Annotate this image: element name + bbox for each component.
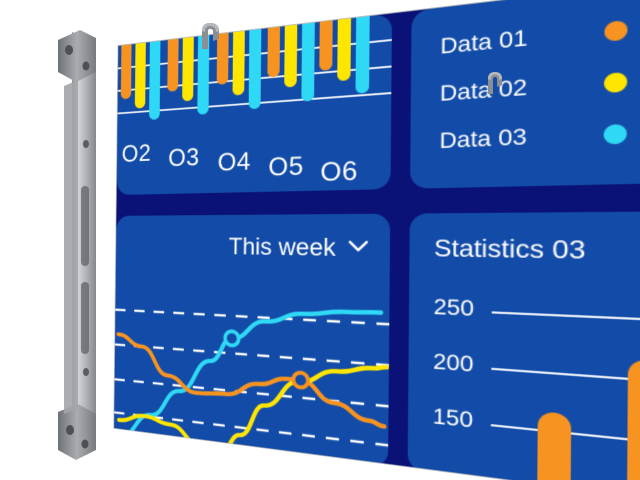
legend-widget[interactable]: Data 01Data 02Data 03: [410, 0, 640, 189]
bar-category-label: O6: [320, 156, 358, 188]
mounting-bracket: [56, 26, 102, 462]
statistics-gridline: [491, 424, 640, 447]
bar-category-label: O5: [268, 151, 304, 182]
legend-item-label: Data 03: [439, 125, 527, 155]
line-markers-group: [225, 331, 309, 388]
bar-chart-widget[interactable]: O2O3O4O5O6: [117, 13, 392, 195]
led-video-wall: O2O3O4O5O6 Data 01Data 02Data 03 This we…: [114, 0, 640, 480]
legend-item-label: Data 01: [440, 26, 528, 60]
line-chart-svg: [114, 280, 389, 468]
statistics-title: Statistics 03: [434, 234, 586, 265]
legend-color-dot: [604, 19, 627, 41]
statistics-gridline: [492, 311, 640, 322]
statistics-bar: [627, 360, 640, 480]
legend-item[interactable]: Data 01: [440, 15, 627, 60]
legend-item[interactable]: Data 03: [439, 119, 627, 154]
statistics-plot: 250200150: [410, 211, 640, 213]
bar-series-group: [121, 13, 370, 122]
statistics-gridline: [491, 368, 640, 385]
hanging-clip: [197, 21, 223, 56]
statistics-bar: [537, 412, 571, 480]
legend-color-dot: [604, 71, 627, 92]
line-chart-title: This week: [229, 234, 336, 263]
statistics-y-tick: 150: [433, 404, 474, 434]
bar-category-label: O2: [122, 139, 152, 168]
line-chart-header[interactable]: This week: [229, 234, 369, 264]
line-chart-widget[interactable]: This week: [114, 214, 390, 468]
statistics-y-tick: 250: [433, 295, 474, 322]
bar-category-label: O3: [168, 143, 200, 172]
led-screen-face: O2O3O4O5O6 Data 01Data 02Data 03 This we…: [114, 0, 640, 480]
line-chart-plot: [114, 280, 389, 468]
bar-chart-svg: [117, 13, 392, 136]
screenshot-stage: O2O3O4O5O6 Data 01Data 02Data 03 This we…: [0, 0, 640, 480]
bar-category-label: O4: [217, 147, 251, 177]
legend-list: Data 01Data 02Data 03: [412, 0, 640, 11]
legend-color-dot: [604, 123, 627, 144]
bar-chart-plot: [117, 13, 392, 136]
statistics-y-tick: 200: [433, 350, 474, 378]
legend-item[interactable]: Data 02: [440, 67, 628, 107]
chevron-down-icon[interactable]: [348, 239, 369, 257]
statistics-widget[interactable]: Statistics 03 250200150: [408, 211, 640, 480]
hanging-clip: [484, 70, 506, 101]
